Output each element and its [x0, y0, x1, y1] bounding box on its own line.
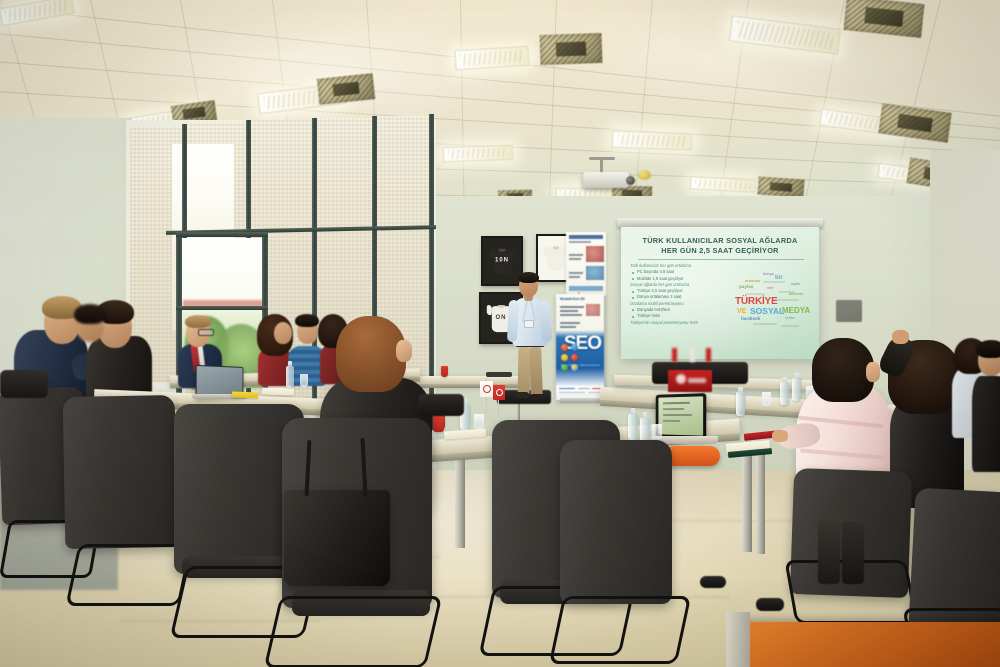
wordcloud-word: VE: [737, 308, 746, 315]
water-bottle: [792, 378, 801, 401]
red-cup: [433, 416, 444, 432]
notepad: [262, 387, 294, 395]
logo-text: [688, 378, 706, 383]
laptop-display: [658, 396, 703, 435]
seminar-room-photo: 10N ON TÜRK KULLANICILAR SOSYAL AĞLARDA …: [0, 0, 1000, 667]
drinking-glass: [300, 374, 308, 387]
chair-base: [264, 596, 443, 667]
banner-stand-base: [560, 398, 600, 403]
yellow-notepad: [232, 392, 258, 399]
water-bottle: [286, 366, 294, 388]
drinking-glass: [652, 424, 662, 439]
presenter-shoe-right: [530, 394, 545, 400]
tshirt-graphic: 10N: [489, 246, 514, 275]
water-bottle: [628, 414, 638, 440]
chair[interactable]: [63, 395, 178, 549]
table-leg: [455, 452, 465, 548]
logo-icon: [676, 374, 686, 384]
wordcloud-word: sayfa: [791, 283, 800, 286]
window-frame-mid: [176, 306, 268, 310]
orange-table: [736, 622, 1000, 667]
attendee-hair: [812, 338, 874, 402]
air-diffuser: [539, 33, 602, 65]
turkish-flag: [492, 382, 506, 416]
attendee-hair: [976, 340, 1000, 358]
table-leg: [726, 612, 750, 667]
air-diffuser: [757, 176, 804, 197]
drinking-glass: [474, 414, 484, 429]
ceiling-light-fixture: [612, 131, 693, 151]
chair[interactable]: [418, 394, 464, 416]
table-leg: [742, 452, 752, 552]
chair-base: [549, 596, 691, 664]
ceiling-projector: [583, 172, 629, 188]
tshirt-graphic: [544, 243, 568, 270]
slide-footer-text: Türkiye'nin sosyal penetrasyonu %49: [630, 320, 728, 326]
dome-detector-icon: [638, 170, 651, 180]
attendee-torso: [972, 376, 1000, 472]
seo-rollup-banner: Mustafa Eser Eli SEO Arama Motoru Optimi…: [556, 294, 604, 400]
drinking-glass: [762, 392, 771, 406]
projector-lens-icon: [626, 176, 635, 185]
wordcloud-word: paylaş: [739, 285, 753, 290]
attendee-leg: [842, 522, 864, 584]
wordcloud-word: SOSYAL: [750, 307, 784, 316]
firefox-icon: [561, 344, 568, 351]
red-cup: [441, 366, 448, 377]
wordcloud-word: arkadaş: [745, 279, 760, 283]
slide-title-underline: [638, 259, 804, 260]
wordcloud-word: dünya: [763, 273, 774, 277]
wordcloud-word: MEDYA: [782, 307, 810, 315]
chair[interactable]: [0, 370, 48, 398]
orange-case: [664, 446, 720, 466]
opera-icon: [571, 354, 578, 361]
slide-bullet-list: Türk kullanıcılar her gün ortalama PC ba…: [630, 263, 728, 327]
chair[interactable]: [560, 440, 672, 604]
shoe: [756, 598, 784, 611]
attendee-hand: [892, 330, 909, 344]
lanyard-badge: [524, 320, 534, 328]
wall-monitor: [836, 300, 862, 322]
table-leg: [756, 454, 765, 554]
chrome-icon: [571, 364, 578, 371]
hair-tie: [346, 374, 374, 386]
attendee-face: [866, 362, 880, 382]
safari-icon: [561, 364, 568, 371]
attendee-head: [274, 322, 292, 344]
slide-bullet: Türkiye %84: [630, 313, 728, 319]
banner-footer: [556, 386, 604, 398]
wordcloud-word: internet: [789, 293, 803, 297]
water-bottle: [780, 382, 789, 405]
laptop[interactable]: [656, 393, 707, 439]
marker-tray: [486, 372, 512, 377]
front-table-edge: [404, 384, 530, 388]
wordcloud-word: twitter: [785, 317, 795, 320]
projection-screen-housing: [617, 218, 823, 227]
attendee-hair: [185, 315, 211, 328]
wordcloud-word: facebook: [741, 317, 760, 321]
attendee-leg: [818, 520, 840, 584]
wordcloud-word: veri: [767, 287, 773, 291]
wall-poster: [566, 232, 606, 296]
small-flag: [706, 348, 711, 362]
small-flag: [672, 348, 677, 362]
slide-title-line1: TÜRK KULLANICILAR SOSYAL AĞLARDA: [626, 236, 814, 246]
front-table: [404, 376, 530, 384]
attendee-face: [396, 340, 412, 362]
projection-screen: TÜRK KULLANICILAR SOSYAL AĞLARDA HER GÜN…: [621, 227, 819, 359]
banner-headline: SEO: [564, 333, 601, 355]
slide-wordcloud: dünya arkadaş paylaş bir sayfa veri inte…: [733, 271, 813, 333]
banner-top-text: Mustafa Eser Eli: [560, 297, 600, 301]
presenter-hair: [518, 272, 539, 283]
explorer-icon: [561, 354, 568, 361]
small-flag: [690, 346, 695, 362]
water-bottle: [736, 392, 745, 416]
shoe: [700, 576, 726, 588]
attendee-hair: [74, 304, 106, 324]
tshirt-label: 10N: [489, 258, 514, 264]
attendee-hair: [295, 314, 319, 327]
framed-artwork: 10N: [481, 236, 523, 286]
eyeglasses-icon: [198, 329, 214, 336]
window-frame-top: [176, 232, 268, 237]
presenter-shoe-left: [515, 392, 529, 398]
edge-icon: [571, 344, 578, 351]
attendee-hand: [772, 430, 788, 442]
handbag: [284, 490, 390, 586]
presenter-leg-right: [529, 347, 543, 397]
ceiling-light-fixture: [443, 145, 513, 162]
slide-title-line2: HER GÜN 2,5 SAAT GEÇİRİYOR: [626, 246, 814, 256]
wordcloud-word: bir: [775, 275, 783, 281]
